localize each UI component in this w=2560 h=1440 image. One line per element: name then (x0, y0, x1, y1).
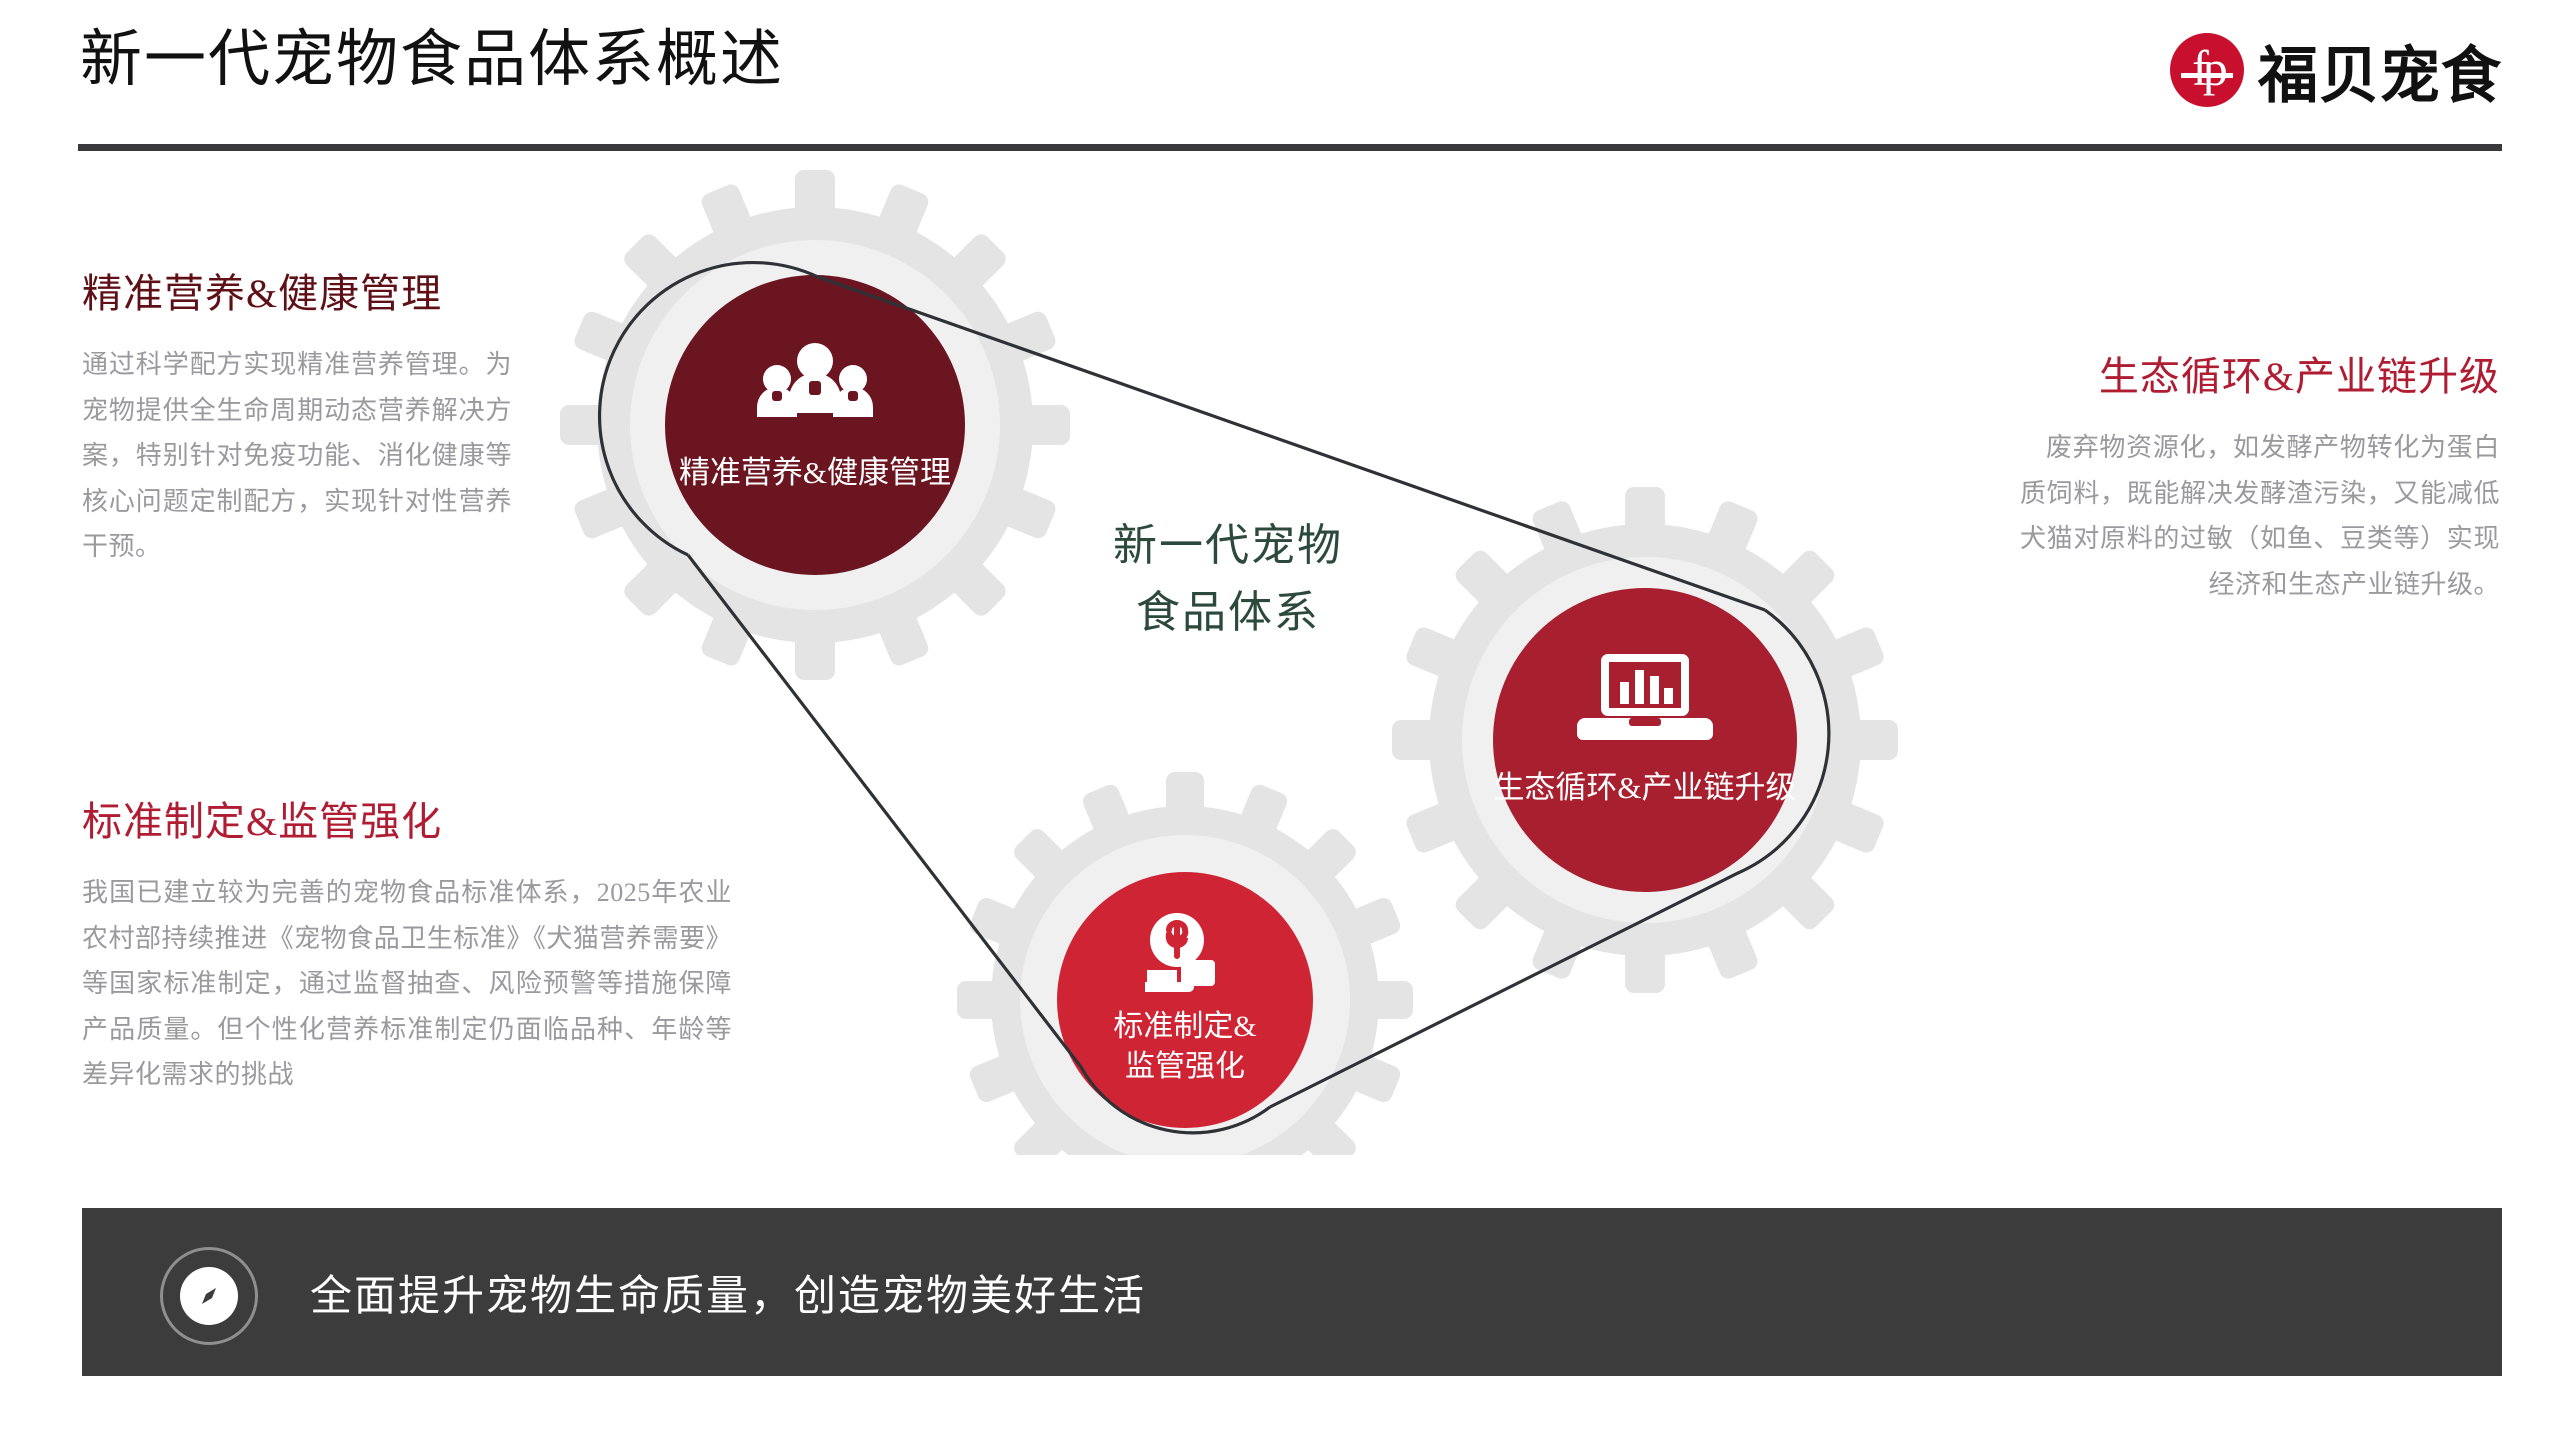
block-ecology-body: 废弃物资源化，如发酵产物转化为蛋白质饲料，既能解决发酵渣污染，又能减低犬猫对原料… (2020, 425, 2500, 607)
footer-text: 全面提升宠物生命质量，创造宠物美好生活 (310, 1262, 1146, 1323)
diagram-center-label-line1: 新一代宠物 (1113, 521, 1343, 570)
fp-monogram-icon: fp (2170, 33, 2244, 107)
node-standard-label-line1: 标准制定& (1113, 1010, 1256, 1043)
fp-monogram-bar (2181, 73, 2233, 78)
node-nutrition-label: 精准营养&健康管理 (679, 455, 951, 490)
block-ecology: 生态循环&产业链升级 废弃物资源化，如发酵产物转化为蛋白质饲料，既能解决发酵渣污… (2020, 355, 2500, 607)
brand-logo: fp 福贝宠食 (2170, 30, 2502, 110)
page-title: 新一代宠物食品体系概述 (80, 28, 784, 93)
title-divider (78, 144, 2502, 151)
compass-needle-icon (192, 1279, 226, 1313)
node-nutrition-circle[interactable] (665, 275, 965, 575)
fp-monogram-text: fp (2192, 43, 2222, 93)
gear-ecology: 生态循环&产业链升级 (1392, 487, 1898, 993)
gear-diagram: 精准营养&健康管理 (530, 155, 1930, 1155)
compass-disc (180, 1267, 238, 1325)
gear-nutrition: 精准营养&健康管理 (560, 170, 1070, 680)
block-nutrition-heading: 精准营养&健康管理 (82, 272, 512, 316)
diagram-center-label-line2: 食品体系 (1136, 588, 1320, 637)
node-standard-label-line2: 监管强化 (1125, 1050, 1245, 1083)
brand-name: 福贝宠食 (2258, 26, 2502, 115)
block-nutrition: 精准营养&健康管理 通过科学配方实现精准营养管理。为宠物提供全生命周期动态营养解… (82, 272, 512, 570)
compass-icon (160, 1247, 258, 1345)
gear-standard: 标准制定& 监管强化 (957, 772, 1413, 1155)
block-nutrition-body: 通过科学配方实现精准营养管理。为宠物提供全生命周期动态营养解决方案，特别针对免疫… (82, 342, 512, 570)
node-ecology-label: 生态循环&产业链升级 (1493, 770, 1796, 805)
block-ecology-heading: 生态循环&产业链升级 (2020, 355, 2500, 399)
